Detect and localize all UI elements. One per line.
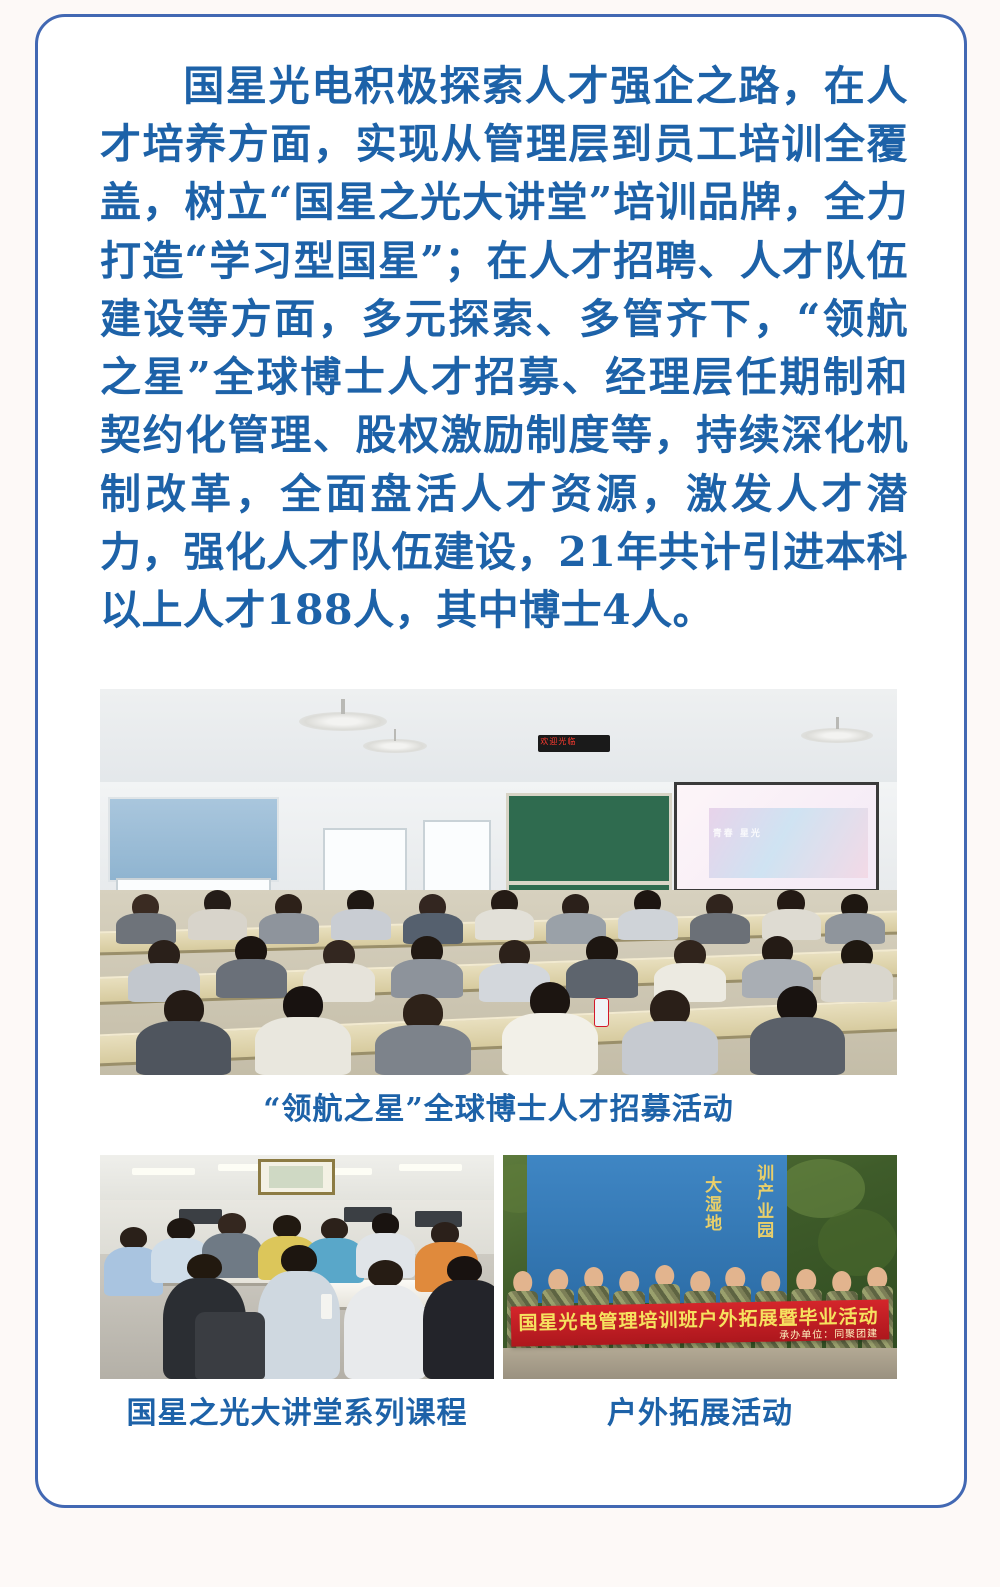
outdoor-team-illustration: 训产业园 大湿地 国星光电管理培训班户外拓展暨毕业活动 承办单位：同聚团建 [503, 1155, 897, 1379]
attendee-body [188, 909, 248, 940]
attendee-body [618, 909, 678, 940]
attendee-body [136, 1021, 232, 1075]
article-paragraph: 国星光电积极探索人才强企之路，在人才培养方面，实现从管理层到员工培训全覆盖，树立… [100, 57, 908, 639]
participant-body [423, 1280, 494, 1379]
blackboard-upper [506, 793, 671, 884]
water-bottle [594, 998, 609, 1027]
wall-text-secondary: 大湿地 [701, 1176, 719, 1233]
foliage [818, 1209, 897, 1276]
attendee-body [502, 1013, 598, 1075]
figure-right-image: 训产业园 大湿地 国星光电管理培训班户外拓展暨毕业活动 承办单位：同聚团建 [503, 1155, 897, 1379]
attendee-body [750, 1017, 846, 1075]
projection-screen: 青春 星光 [674, 782, 879, 892]
attendee-body [255, 1017, 351, 1075]
figure-main-image: 欢迎光临 青春 星光 [100, 689, 897, 1075]
figure-main-caption: “领航之星”全球博士人才招募活动 [100, 1095, 897, 1125]
attendee-body [475, 909, 535, 940]
ceiling-light-1 [132, 1168, 195, 1175]
participant-head [167, 1218, 195, 1240]
banner-sub-text: 承办单位：同聚团建 [779, 1324, 878, 1341]
figure-row-captions: 国星之光大讲堂系列课程 户外拓展活动 [100, 1399, 897, 1439]
ceiling-fan-3 [801, 728, 873, 743]
attendee-body [622, 1021, 718, 1075]
wall-text-primary: 训产业园 [753, 1164, 771, 1240]
event-banner: 国星光电管理培训班户外拓展暨毕业活动 承办单位：同聚团建 [511, 1299, 890, 1347]
figure-row: 训产业园 大湿地 国星光电管理培训班户外拓展暨毕业活动 承办单位：同聚团建 [100, 1155, 897, 1379]
participant-head [187, 1254, 222, 1281]
office-chair-1 [195, 1312, 266, 1379]
slide-title: 青春 星光 [713, 826, 762, 839]
article-card: 国星光电积极探索人才强企之路，在人才培养方面，实现从管理层到员工培训全覆盖，树立… [35, 14, 967, 1508]
participant-head [372, 1213, 400, 1235]
wall-artwork [258, 1159, 335, 1194]
participant-head [120, 1227, 148, 1249]
paragraph-text: 国星光电积极探索人才强企之路，在人才培养方面，实现从管理层到员工培训全覆盖，树立… [100, 62, 908, 634]
figure-left-caption: 国星之光大讲堂系列课程 [100, 1399, 494, 1429]
figure-left-image [100, 1155, 494, 1379]
participant-head [321, 1218, 349, 1240]
ground [503, 1348, 897, 1379]
water-cup [321, 1294, 333, 1319]
participant-head [447, 1256, 482, 1283]
attendee-body [566, 959, 638, 998]
figure-right-caption: 户外拓展活动 [503, 1399, 897, 1429]
participant-head [218, 1213, 246, 1235]
window-blind [108, 797, 279, 882]
attendee-body [690, 913, 750, 944]
ceiling-fan-2 [363, 739, 427, 753]
attendee-body [391, 959, 463, 998]
participant-head [431, 1222, 459, 1244]
attendee-body [331, 909, 391, 940]
attendee-body [762, 909, 822, 940]
attendee-body [216, 959, 288, 998]
led-display: 欢迎光临 [538, 735, 610, 751]
attendee-body [821, 963, 893, 1002]
artwork-canvas [269, 1166, 323, 1188]
participant-head [281, 1245, 316, 1274]
participant-head [273, 1215, 301, 1237]
projected-slide [709, 808, 868, 879]
ceiling-light-4 [399, 1164, 462, 1171]
attendee-body [259, 913, 319, 944]
led-display-text: 欢迎光临 [540, 736, 608, 750]
attendee-body [116, 913, 176, 944]
ceiling [100, 689, 897, 789]
attendee-body [375, 1025, 471, 1075]
participant-body [344, 1285, 427, 1379]
participant-head [368, 1260, 403, 1287]
workshop-illustration [100, 1155, 494, 1379]
participant-body [258, 1271, 341, 1379]
lecture-hall-illustration: 欢迎光临 青春 星光 [100, 689, 897, 1075]
